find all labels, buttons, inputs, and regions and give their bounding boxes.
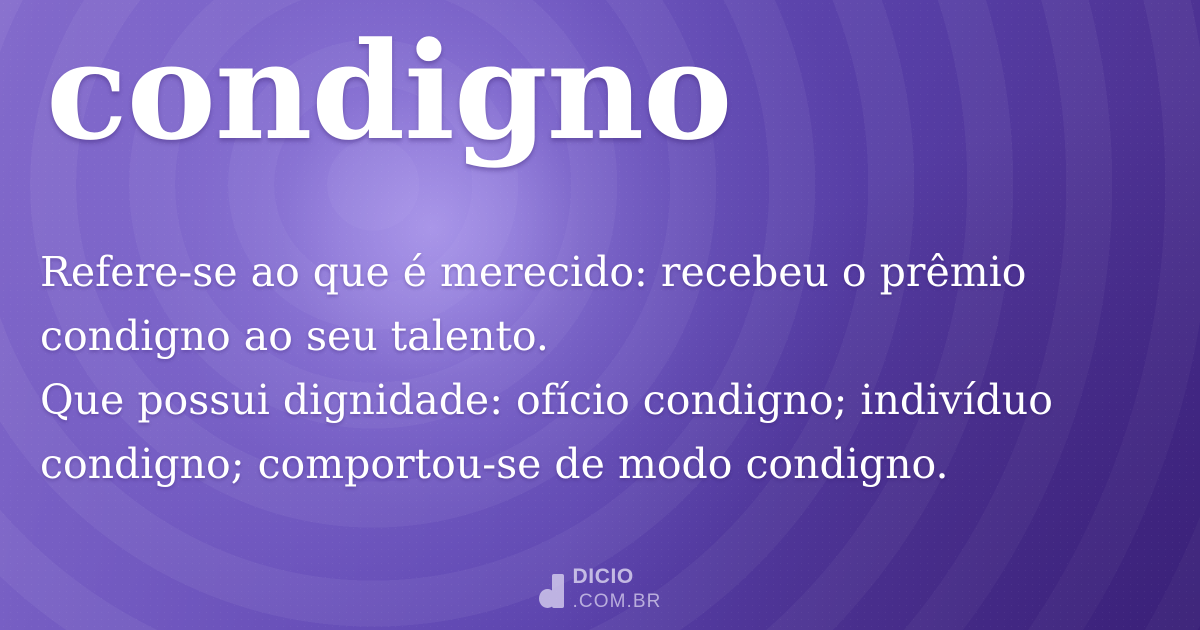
definition-line: Refere-se ao que é merecido: recebeu o p… (40, 240, 1170, 304)
brand-logo-mark (539, 570, 564, 608)
brand-wordmark: DICIO .COM.BR (573, 566, 662, 612)
definition-line: condigno ao seu talento. (40, 304, 1170, 368)
definition-card: condigno Refere-se ao que é merecido: re… (0, 0, 1200, 630)
definition-line: condigno; comportou-se de modo condigno. (40, 432, 1170, 496)
brand-logo[interactable]: DICIO .COM.BR (0, 566, 1200, 612)
brand-tld: .COM.BR (573, 592, 662, 611)
headword-title: condigno (46, 24, 732, 158)
card-content: condigno Refere-se ao que é merecido: re… (0, 0, 1200, 630)
definition-line: Que possui dignidade: ofício condigno; i… (40, 368, 1170, 432)
logo-bar-icon (552, 574, 564, 608)
definitions-block: Refere-se ao que é merecido: recebeu o p… (40, 240, 1170, 496)
brand-name: DICIO (573, 566, 662, 587)
